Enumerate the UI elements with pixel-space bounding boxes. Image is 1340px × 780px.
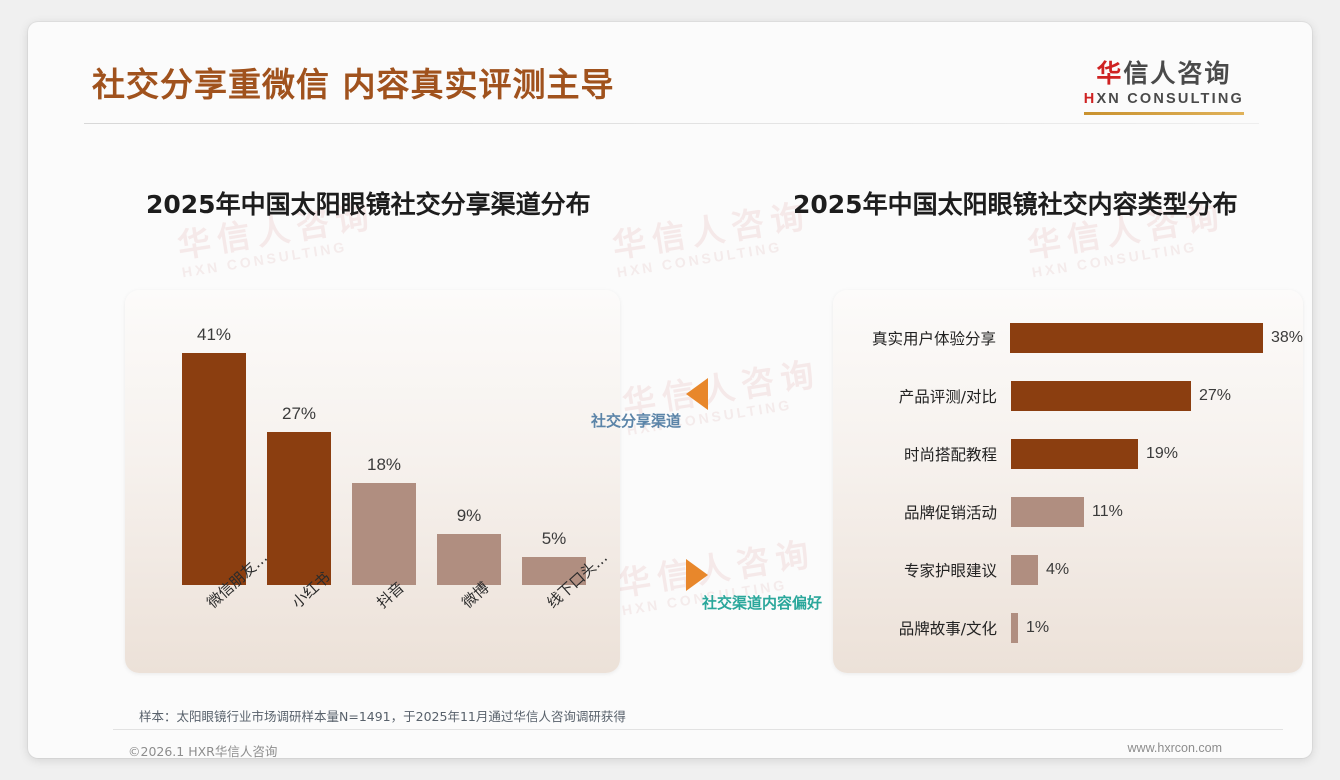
bar-column: 41%微信朋友…: [182, 353, 246, 585]
bar-wrapper: 38%: [1010, 323, 1303, 353]
bar: [352, 483, 416, 585]
right-chart-card: 真实用户体验分享38%产品评测/对比27%时尚搭配教程19%品牌促销活动11%专…: [833, 290, 1303, 673]
logo-en-rest: XN CONSULTING: [1096, 91, 1244, 107]
left-chart-card: 41%微信朋友…27%小红书18%抖音9%微博5%线下口头…: [125, 290, 620, 673]
page-title: 社交分享重微信 内容真实评测主导: [92, 58, 615, 106]
bar-category-label: 时尚搭配教程: [833, 443, 1011, 465]
bar-value-label: 19%: [1146, 445, 1178, 463]
watermark-en: HXN CONSULTING: [616, 233, 816, 280]
watermark-en: HXN CONSULTING: [181, 233, 381, 280]
bar-wrapper: 27%: [1011, 381, 1231, 411]
bar-value-label: 38%: [1271, 329, 1303, 347]
bar-value-label: 5%: [542, 529, 567, 549]
triangle-left-icon: [686, 378, 708, 410]
company-logo: 华信人咨询 HXN CONSULTING: [1084, 60, 1244, 115]
annotation-bottom-label-wrap: 社交渠道内容偏好: [702, 592, 822, 613]
bar: [1011, 555, 1038, 585]
bar-category-label: 专家护眼建议: [833, 559, 1011, 581]
logo-cn-highlight: 华: [1096, 59, 1123, 88]
annotation-top: [686, 378, 708, 410]
bar-column: 5%线下口头…: [522, 557, 586, 585]
bar: [437, 534, 501, 585]
bar-value-label: 18%: [367, 455, 401, 475]
footer-divider: [113, 729, 1283, 730]
watermark: 华信人咨询 HXN CONSULTING: [610, 199, 815, 280]
bar-value-label: 1%: [1026, 619, 1049, 637]
annotation-top-label: 社交分享渠道: [591, 410, 681, 431]
bar: [1011, 613, 1018, 643]
bar-category-label: 真实用户体验分享: [833, 327, 1010, 349]
bar: [267, 432, 331, 585]
bar-row: 品牌促销活动11%: [833, 497, 1303, 527]
bar-column: 9%微博: [437, 534, 501, 585]
bar-category-label: 产品评测/对比: [833, 385, 1011, 407]
bar: [182, 353, 246, 585]
logo-cn-rest: 信人咨询: [1123, 59, 1231, 88]
bar-value-label: 11%: [1092, 503, 1123, 521]
bar-row: 时尚搭配教程19%: [833, 439, 1303, 469]
bar-row: 真实用户体验分享38%: [833, 323, 1303, 353]
bar: [1011, 439, 1138, 469]
header-divider: [84, 123, 1259, 124]
bar-column: 27%小红书: [267, 432, 331, 585]
watermark-en: HXN CONSULTING: [1031, 233, 1231, 280]
bar-wrapper: 19%: [1011, 439, 1178, 469]
watermark-cn: 华信人咨询: [610, 199, 813, 265]
bar-wrapper: 1%: [1011, 613, 1049, 643]
right-chart-title: 2025年中国太阳眼镜社交内容类型分布: [793, 185, 1238, 221]
bar-row: 专家护眼建议4%: [833, 555, 1303, 585]
triangle-right-icon: [686, 559, 708, 591]
logo-underline-bar: [1084, 112, 1244, 115]
logo-chinese-text: 华信人咨询: [1084, 60, 1244, 88]
bar-value-label: 4%: [1046, 561, 1069, 579]
annotation-bottom: [686, 559, 708, 591]
annotation-top-label-wrap: 社交分享渠道: [591, 410, 681, 431]
bar-value-label: 27%: [282, 404, 316, 424]
slide-canvas: 华信人咨询 HXN CONSULTING 华信人咨询 HXN CONSULTIN…: [28, 22, 1312, 758]
bar-category-label: 品牌促销活动: [833, 501, 1011, 523]
footer-copyright: ©2026.1 HXR华信人咨询: [128, 741, 277, 758]
bar-value-label: 41%: [197, 325, 231, 345]
bar-column: 18%抖音: [352, 483, 416, 585]
vertical-bar-chart: 41%微信朋友…27%小红书18%抖音9%微博5%线下口头…: [125, 290, 620, 673]
bar-row: 品牌故事/文化1%: [833, 613, 1303, 643]
horizontal-bar-chart: 真实用户体验分享38%产品评测/对比27%时尚搭配教程19%品牌促销活动11%专…: [833, 290, 1303, 673]
bar: [1011, 381, 1191, 411]
bar: [1010, 323, 1263, 353]
bar-value-label: 27%: [1199, 387, 1231, 405]
bar: [1011, 497, 1084, 527]
logo-english-text: HXN CONSULTING: [1084, 91, 1244, 107]
left-chart-title: 2025年中国太阳眼镜社交分享渠道分布: [146, 185, 591, 221]
logo-en-highlight: H: [1084, 91, 1097, 107]
annotation-bottom-label: 社交渠道内容偏好: [702, 592, 822, 613]
bar-wrapper: 4%: [1011, 555, 1069, 585]
footer-website: www.hxrcon.com: [1128, 741, 1222, 755]
bar-category-label: 品牌故事/文化: [833, 617, 1011, 639]
source-footnote: 样本：太阳眼镜行业市场调研样本量N=1491，于2025年11月通过华信人咨询调…: [139, 706, 626, 725]
bar-row: 产品评测/对比27%: [833, 381, 1303, 411]
bar-wrapper: 11%: [1011, 497, 1123, 527]
bar-value-label: 9%: [457, 506, 482, 526]
